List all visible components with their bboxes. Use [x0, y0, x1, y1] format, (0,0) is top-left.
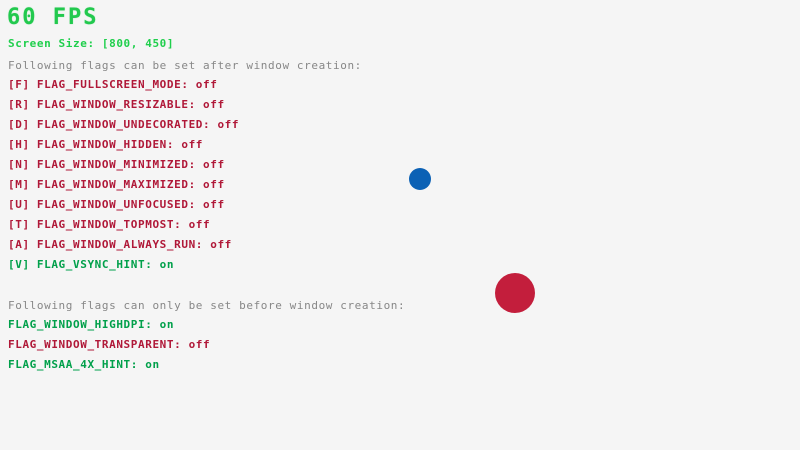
flag-row-msaa-4x-hint: FLAG_MSAA_4X_HINT: on: [8, 359, 160, 370]
flag-row-window-always-run[interactable]: [A] FLAG_WINDOW_ALWAYS_RUN: off: [8, 239, 232, 250]
flag-row-vsync-hint[interactable]: [V] FLAG_VSYNC_HINT: on: [8, 259, 174, 270]
flag-row-window-topmost[interactable]: [T] FLAG_WINDOW_TOPMOST: off: [8, 219, 210, 230]
flag-row-window-maximized[interactable]: [M] FLAG_WINDOW_MAXIMIZED: off: [8, 179, 225, 190]
flag-row-window-hidden[interactable]: [H] FLAG_WINDOW_HIDDEN: off: [8, 139, 203, 150]
fps-counter: 60 FPS: [7, 7, 98, 29]
flag-row-window-transparent: FLAG_WINDOW_TRANSPARENT: off: [8, 339, 210, 350]
screen-size-label: Screen Size: [800, 450]: [8, 38, 174, 49]
raylib-window-canvas: 60 FPS Screen Size: [800, 450] Following…: [0, 0, 800, 450]
flag-row-fullscreen-mode[interactable]: [F] FLAG_FULLSCREEN_MODE: off: [8, 79, 217, 90]
creation-flags-heading: Following flags can only be set before w…: [8, 300, 405, 311]
flag-row-window-resizable[interactable]: [R] FLAG_WINDOW_RESIZABLE: off: [8, 99, 225, 110]
small-blue-ball: [409, 168, 431, 190]
flag-row-window-minimized[interactable]: [N] FLAG_WINDOW_MINIMIZED: off: [8, 159, 225, 170]
flag-row-window-unfocused[interactable]: [U] FLAG_WINDOW_UNFOCUSED: off: [8, 199, 225, 210]
runtime-flags-heading: Following flags can be set after window …: [8, 60, 362, 71]
flag-row-window-undecorated[interactable]: [D] FLAG_WINDOW_UNDECORATED: off: [8, 119, 239, 130]
flag-row-window-highdpi: FLAG_WINDOW_HIGHDPI: on: [8, 319, 174, 330]
large-red-ball: [495, 273, 535, 313]
